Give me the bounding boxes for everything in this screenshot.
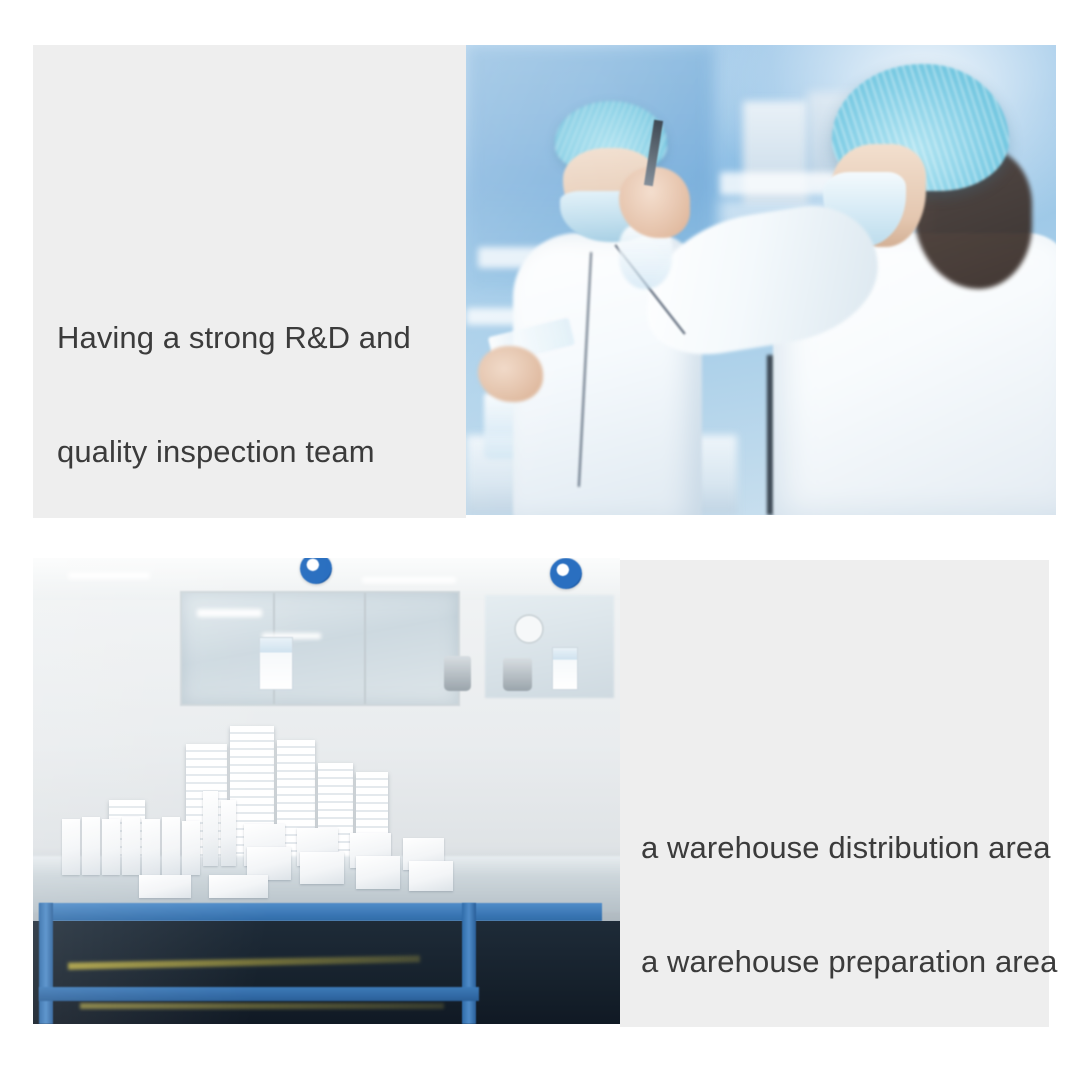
steel-container: [444, 656, 471, 691]
rnd-caption: Having a strong R&D and quality inspecti…: [57, 243, 457, 547]
product-carton-flat: [139, 875, 192, 898]
rnd-caption-line-2: quality inspection team: [57, 433, 457, 471]
product-carton: [62, 819, 80, 875]
product-carton: [162, 817, 180, 875]
company-logo-icon: [550, 558, 582, 589]
product-tube: [221, 800, 236, 865]
product-carton-flat: [409, 861, 453, 891]
product-carton: [182, 821, 200, 875]
warehouse-caption-line-1: a warehouse distribution area: [641, 829, 1041, 867]
packing-table-leg: [462, 903, 476, 1024]
ceiling-light: [68, 572, 150, 579]
packing-room-floor: [33, 921, 620, 1024]
floor-marking-tape: [80, 1003, 444, 1009]
steel-container: [503, 658, 532, 691]
warehouse-caption-line-2: a warehouse preparation area: [641, 943, 1041, 981]
product-carton-flat: [209, 875, 268, 898]
ceiling-light: [362, 577, 456, 584]
warehouse-packing-photo: [33, 558, 620, 1024]
product-carton-flat: [300, 852, 344, 885]
warehouse-caption: a warehouse distribution area a warehous…: [641, 753, 1041, 1057]
product-carton: [142, 819, 160, 875]
product-carton: [122, 817, 140, 875]
product-tube: [203, 791, 218, 866]
rnd-quality-inspection-photo: [466, 45, 1056, 515]
poster-root: Having a strong R&D and quality inspecti…: [0, 0, 1080, 1080]
product-carton: [102, 819, 120, 875]
cleanroom-window: [180, 591, 460, 707]
ceiling-light: [197, 609, 262, 616]
rnd-caption-line-1: Having a strong R&D and: [57, 319, 457, 357]
wall-notice-board: [552, 647, 577, 691]
product-carton-flat: [356, 856, 400, 889]
wall-notice-board: [259, 637, 293, 690]
wall-clock-icon: [514, 614, 544, 644]
packing-table-lower-shelf: [39, 987, 479, 1001]
packing-table-leg: [39, 903, 53, 1024]
product-carton: [82, 817, 100, 875]
window-mullion: [364, 593, 366, 705]
packing-table-frame: [39, 903, 603, 922]
